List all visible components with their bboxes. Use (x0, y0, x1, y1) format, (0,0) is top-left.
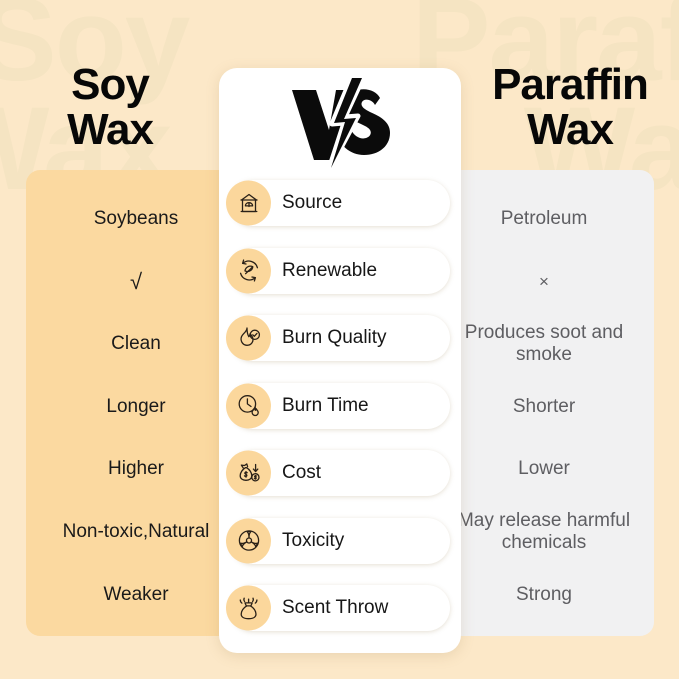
soy-value-scent-throw: Weaker (34, 563, 238, 626)
vs-logo (219, 68, 461, 180)
paraffin-value-toxicity: May release harmful chemicals (442, 501, 646, 564)
paraffin-value-source: Petroleum (442, 188, 646, 251)
paraffin-value-burn-time: Shorter (442, 376, 646, 439)
soy-value-toxicity: Non-toxic,Natural (34, 501, 238, 564)
infographic-canvas: Soy Wax Paraffi Wax Soy Wax Paraffin Wax… (0, 0, 679, 679)
paraffin-wax-title-line1: Paraffin (462, 62, 678, 107)
criteria-row-source[interactable]: Source (230, 180, 450, 226)
recycle-leaf-icon (226, 248, 271, 293)
criteria-label-toxicity: Toxicity (282, 530, 344, 552)
criteria-label-burn-time: Burn Time (282, 395, 369, 417)
soy-value-source: Soybeans (34, 188, 238, 251)
flame-check-icon (226, 316, 271, 361)
paraffin-wax-value-panel: Petroleum × Produces soot and smoke Shor… (434, 170, 654, 636)
criteria-row-cost[interactable]: Cost (230, 450, 450, 496)
criteria-label-renewable: Renewable (282, 260, 377, 282)
scent-sachet-icon (226, 586, 271, 631)
soy-wax-value-panel: Soybeans √ Clean Longer Higher Non-toxic… (26, 170, 246, 636)
paraffin-value-renewable: × (442, 251, 646, 314)
soy-wax-title-line2: Wax (4, 107, 216, 152)
paraffin-wax-title: Paraffin Wax (462, 62, 678, 153)
money-bag-arrow-icon (226, 451, 271, 496)
criteria-row-list: Source Renewable (219, 180, 461, 653)
criteria-row-burn-time[interactable]: Burn Time (230, 383, 450, 429)
criteria-label-scent-throw: Scent Throw (282, 597, 388, 619)
paraffin-wax-title-line2: Wax (462, 107, 678, 152)
paraffin-value-scent-throw: Strong (442, 563, 646, 626)
biohazard-icon (226, 518, 271, 563)
soy-value-renewable: √ (34, 251, 238, 314)
criteria-row-scent-throw[interactable]: Scent Throw (230, 585, 450, 631)
soy-value-cost: Higher (34, 438, 238, 501)
paraffin-value-cost: Lower (442, 438, 646, 501)
soy-value-burn-quality: Clean (34, 313, 238, 376)
criteria-label-cost: Cost (282, 462, 321, 484)
soy-value-burn-time: Longer (34, 376, 238, 439)
soy-wax-title-line1: Soy (4, 62, 216, 107)
criteria-row-renewable[interactable]: Renewable (230, 248, 450, 294)
clock-flame-icon (226, 383, 271, 428)
comparison-criteria-card: Source Renewable (219, 68, 461, 653)
criteria-row-burn-quality[interactable]: Burn Quality (230, 315, 450, 361)
criteria-row-toxicity[interactable]: Toxicity (230, 518, 450, 564)
sack-leaf-icon (226, 181, 271, 226)
paraffin-value-burn-quality: Produces soot and smoke (442, 313, 646, 376)
criteria-label-source: Source (282, 192, 342, 214)
criteria-label-burn-quality: Burn Quality (282, 327, 387, 349)
soy-wax-title: Soy Wax (4, 62, 216, 153)
